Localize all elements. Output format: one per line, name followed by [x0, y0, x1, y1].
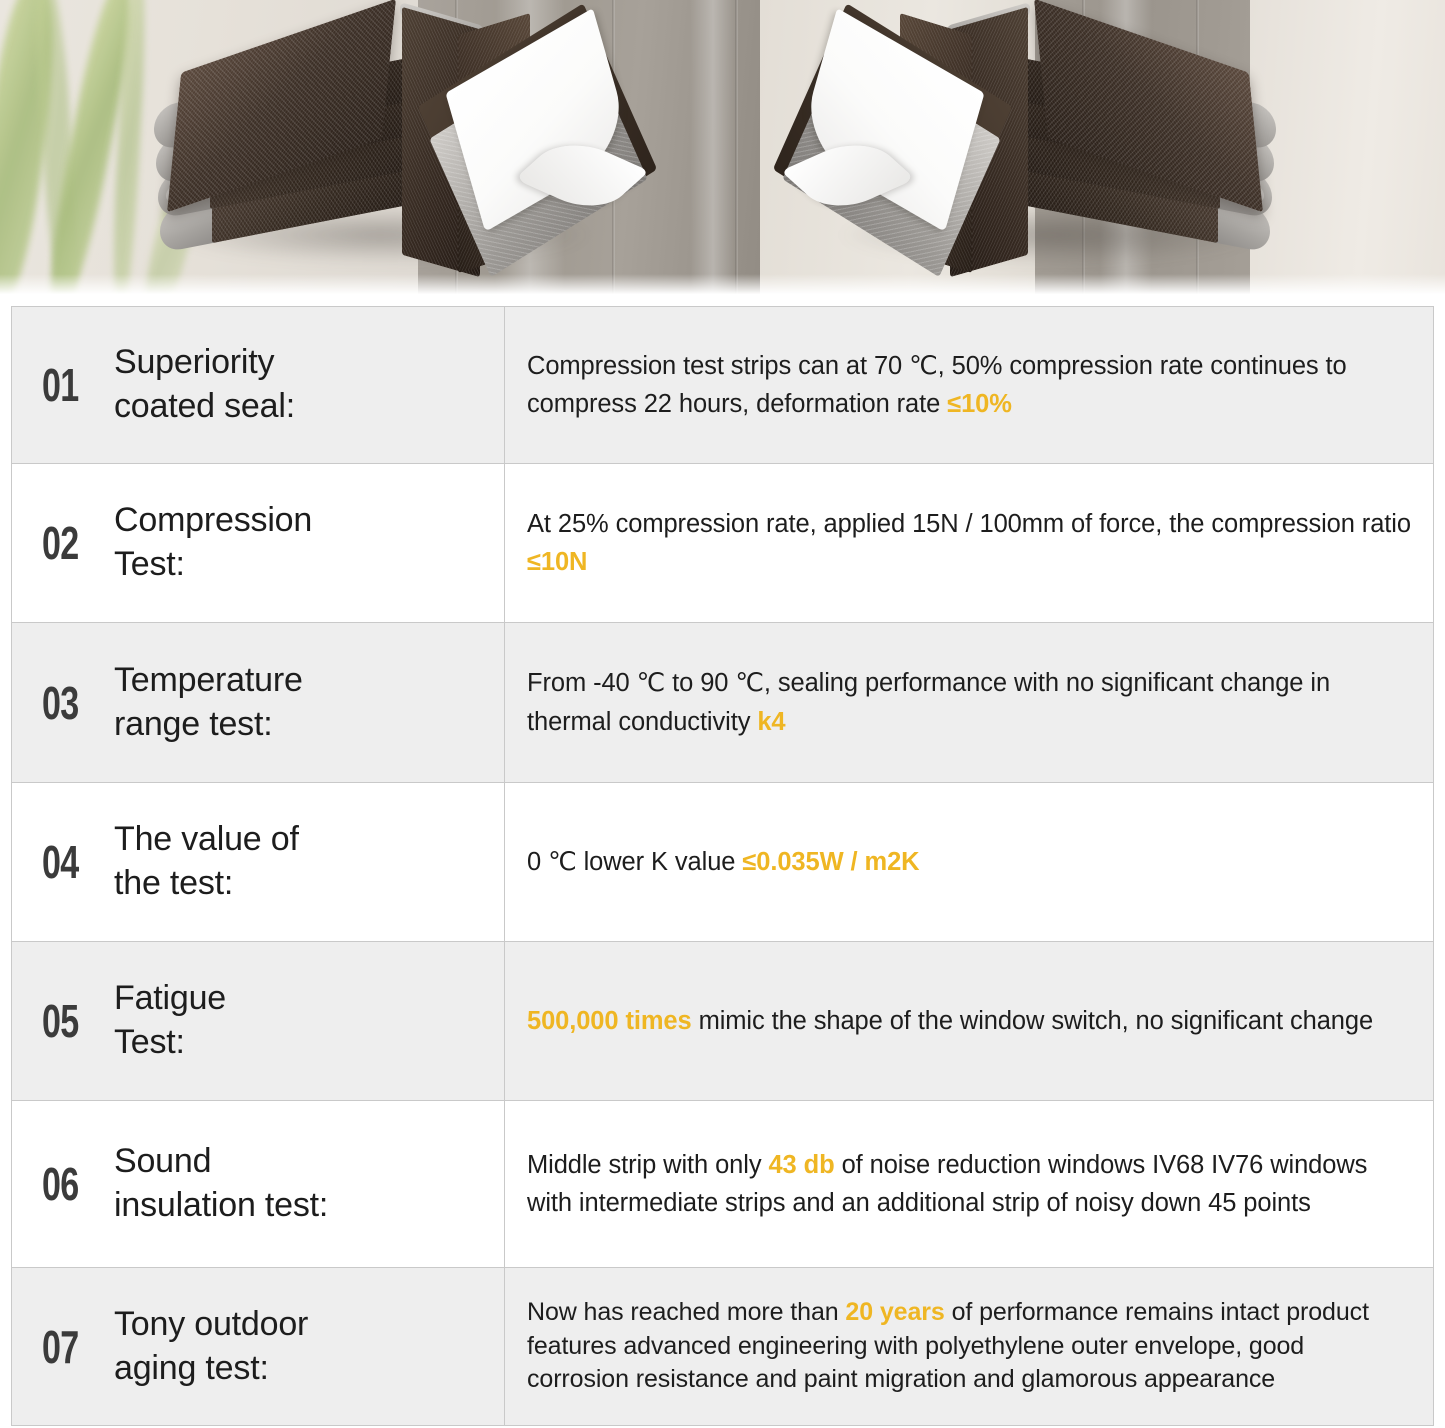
- row-description-cell: At 25% compression rate, applied 15N / 1…: [505, 464, 1433, 622]
- table-row: 05 Fatigue Test: 500,000 times mimic the…: [12, 942, 1433, 1101]
- row-title-line-1: Superiority: [114, 341, 295, 385]
- hero-bottom-fade: [0, 274, 1445, 300]
- row-description-cell: Now has reached more than 20 years of pe…: [505, 1268, 1433, 1425]
- row-description-cell: Middle strip with only 43 db of noise re…: [505, 1101, 1433, 1267]
- row-description: Now has reached more than 20 years of pe…: [527, 1296, 1411, 1397]
- row-number: 03: [42, 680, 95, 726]
- row-label-cell: 07 Tony outdoor aging test:: [12, 1268, 505, 1425]
- row-title: Temperature range test:: [114, 659, 303, 746]
- seal-strip-product-group-mirrored: [770, 0, 1290, 300]
- row-description-cell: Compression test strips can at 70 ℃, 50%…: [505, 307, 1433, 463]
- row-title-line-2: Test:: [114, 1021, 226, 1065]
- row-description: Compression test strips can at 70 ℃, 50%…: [527, 347, 1411, 424]
- row-title-line-1: The value of: [114, 818, 299, 862]
- row-description: Middle strip with only 43 db of noise re…: [527, 1146, 1411, 1223]
- row-title-line-1: Temperature: [114, 659, 303, 703]
- row-description-cell: 500,000 times mimic the shape of the win…: [505, 942, 1433, 1100]
- table-row: 02 Compression Test: At 25% compression …: [12, 464, 1433, 623]
- table-row: 03 Temperature range test: From -40 ℃ to…: [12, 623, 1433, 783]
- row-number: 02: [42, 520, 95, 566]
- adhesive-peel-strip: [440, 48, 665, 263]
- row-description: 0 ℃ lower K value ≤0.035W / m2K: [527, 843, 919, 881]
- row-title: Fatigue Test:: [114, 977, 226, 1064]
- door-groove: [735, 0, 738, 300]
- specification-table: 01 Superiority coated seal: Compression …: [11, 306, 1434, 1426]
- row-number: 04: [42, 839, 95, 885]
- desc-text-pre: Middle strip with only: [527, 1151, 768, 1179]
- seal-strip-product-group: [140, 0, 660, 300]
- row-number: 01: [42, 362, 95, 408]
- row-label-cell: 02 Compression Test:: [12, 464, 505, 622]
- row-title-line-1: Compression: [114, 499, 312, 543]
- desc-text-post: mimic the shape of the window switch, no…: [692, 1007, 1373, 1035]
- row-label-cell: 04 The value of the test:: [12, 783, 505, 941]
- row-label-cell: 01 Superiority coated seal:: [12, 307, 505, 463]
- row-number: 06: [42, 1161, 95, 1207]
- desc-highlight: ≤10%: [947, 390, 1012, 418]
- desc-text-pre: At 25% compression rate, applied 15N / 1…: [527, 510, 1411, 538]
- adhesive-peel-strip: [765, 48, 990, 263]
- row-title-line-2: aging test:: [114, 1347, 308, 1391]
- desc-text-pre: From -40 ℃ to 90 ℃, sealing performance …: [527, 669, 1330, 735]
- desc-text-pre: Now has reached more than: [527, 1298, 845, 1326]
- row-label-cell: 03 Temperature range test:: [12, 623, 505, 782]
- row-number: 07: [42, 1324, 95, 1370]
- row-title-line-2: the test:: [114, 862, 299, 906]
- table-row: 07 Tony outdoor aging test: Now has reac…: [12, 1268, 1433, 1425]
- row-title-line-1: Sound: [114, 1140, 328, 1184]
- desc-highlight: 43 db: [768, 1151, 834, 1179]
- desc-highlight: 20 years: [845, 1298, 944, 1326]
- row-title: Tony outdoor aging test:: [114, 1303, 308, 1390]
- row-title-line-1: Tony outdoor: [114, 1303, 308, 1347]
- row-title-line-2: range test:: [114, 703, 303, 747]
- desc-highlight: ≤10N: [527, 548, 587, 576]
- row-description: 500,000 times mimic the shape of the win…: [527, 1002, 1373, 1040]
- row-number: 05: [42, 998, 95, 1044]
- row-label-cell: 05 Fatigue Test:: [12, 942, 505, 1100]
- row-label-cell: 06 Sound insulation test:: [12, 1101, 505, 1267]
- row-description: From -40 ℃ to 90 ℃, sealing performance …: [527, 664, 1411, 741]
- row-title-line-2: Test:: [114, 543, 312, 587]
- row-title-line-1: Fatigue: [114, 977, 226, 1021]
- table-row: 06 Sound insulation test: Middle strip w…: [12, 1101, 1433, 1268]
- row-title: The value of the test:: [114, 818, 299, 905]
- hero-product-image: [0, 0, 1445, 300]
- row-title-line-2: insulation test:: [114, 1184, 328, 1228]
- row-description-cell: 0 ℃ lower K value ≤0.035W / m2K: [505, 783, 1433, 941]
- row-title: Sound insulation test:: [114, 1140, 328, 1227]
- row-description: At 25% compression rate, applied 15N / 1…: [527, 505, 1411, 582]
- desc-highlight: 500,000 times: [527, 1007, 692, 1035]
- table-row: 04 The value of the test: 0 ℃ lower K va…: [12, 783, 1433, 942]
- row-title-line-2: coated seal:: [114, 385, 295, 429]
- row-title: Superiority coated seal:: [114, 341, 295, 428]
- desc-highlight: ≤0.035W / m2K: [742, 848, 919, 876]
- table-row: 01 Superiority coated seal: Compression …: [12, 307, 1433, 464]
- desc-text-pre: Compression test strips can at 70 ℃, 50%…: [527, 352, 1347, 418]
- row-description-cell: From -40 ℃ to 90 ℃, sealing performance …: [505, 623, 1433, 782]
- desc-highlight: k4: [757, 708, 785, 736]
- row-title: Compression Test:: [114, 499, 312, 586]
- desc-text-pre: 0 ℃ lower K value: [527, 848, 742, 876]
